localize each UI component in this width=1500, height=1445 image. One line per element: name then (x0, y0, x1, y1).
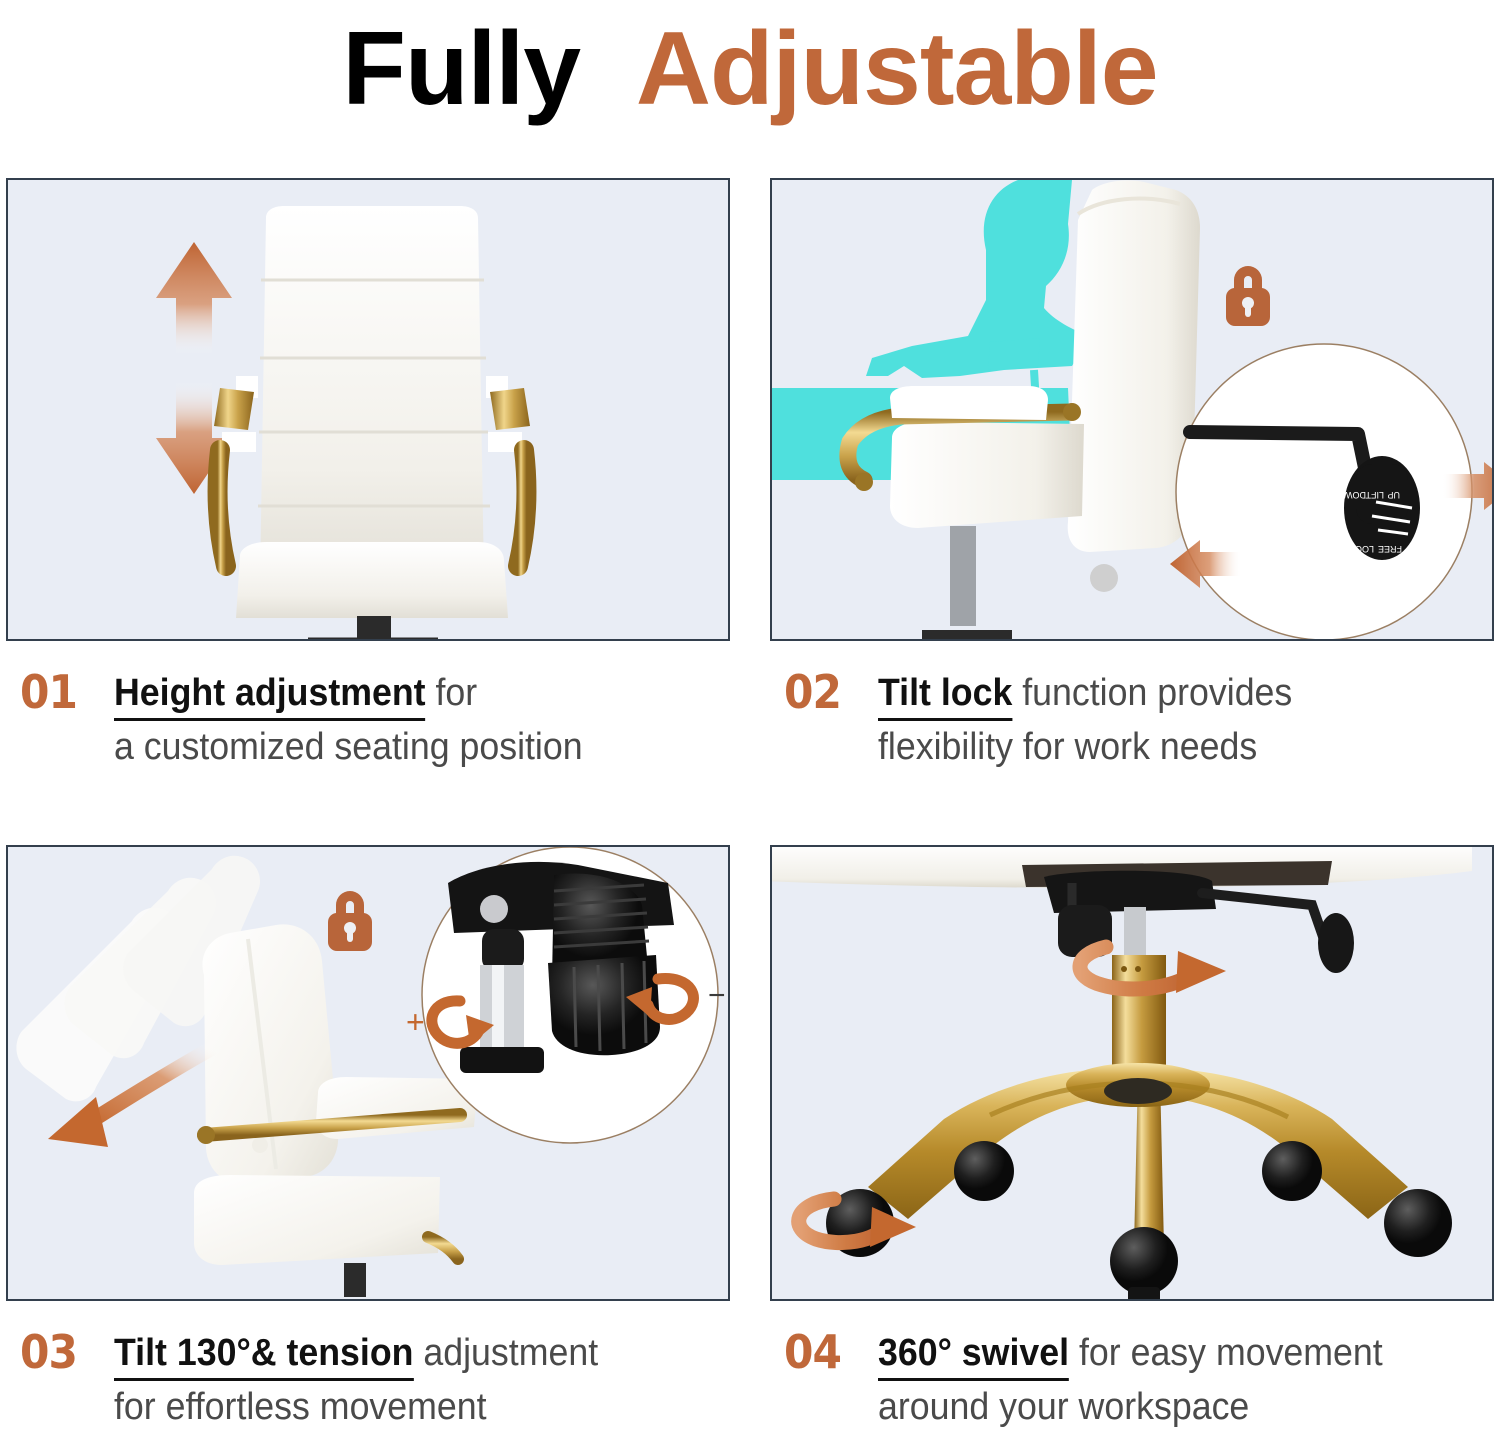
chair-base-swivel-art (772, 847, 1494, 1301)
lock-icon (1226, 266, 1270, 326)
caption-02: 02 Tilt lock function provides flexibili… (772, 666, 1500, 774)
tension-plus-label: + (406, 1004, 425, 1040)
swivel-base (868, 1063, 1408, 1247)
caption-line-1: Tilt 130°& tension adjustment (114, 1326, 710, 1380)
caption-rest: function provides (1012, 672, 1292, 714)
caption-strong: Tilt 130°& tension (114, 1332, 413, 1381)
caster-wheel (1110, 1227, 1178, 1295)
caption-number: 01 (20, 666, 77, 718)
caption-line-2: around your workspace (878, 1380, 1474, 1434)
chair-front-height-adjust-art (8, 180, 730, 641)
caption-strong: 360° swivel (878, 1332, 1069, 1381)
caster-wheel (954, 1141, 1014, 1201)
caption-line-1: Tilt lock function provides (878, 666, 1474, 720)
caption-line-1: 360° swivel for easy movement (878, 1326, 1474, 1380)
panel-tilt-tension: + − (6, 845, 730, 1301)
caption-rest: for easy movement (1069, 1332, 1383, 1374)
lever-label-free: FREE (1378, 544, 1402, 554)
panel-swivel (770, 845, 1494, 1301)
chair-armrest-right (486, 376, 530, 566)
caption-number: 04 (784, 1326, 841, 1378)
caption-04: 04 360° swivel for easy movement around … (772, 1326, 1500, 1434)
lever-label-down: DOWN (1338, 490, 1367, 500)
panel-height-adjustment (6, 178, 730, 641)
title-word-accent: Adjustable (636, 11, 1158, 127)
caption-strong: Tilt lock (878, 672, 1012, 721)
tilt-lock-inset: FREE LOCK UP LIFT DOWN (1170, 344, 1494, 640)
chair-backrest (258, 206, 490, 580)
lever-label-up: UP (1387, 490, 1400, 500)
title-word-black: Fully (342, 11, 580, 127)
tension-minus-label: − (708, 979, 726, 1012)
caption-line-1: Height adjustment for (114, 666, 710, 720)
gas-cylinder-column (1112, 955, 1166, 1079)
caption-rest: for (426, 672, 478, 714)
caption-line-2: a customized seating position (114, 720, 710, 774)
chair-armrest-left (214, 376, 258, 566)
infographic-root: Fully Adjustable (0, 0, 1500, 1445)
chair-cylinder (308, 616, 438, 641)
lock-icon (328, 891, 372, 951)
chair-recline-tension-art: + − (8, 847, 730, 1301)
caption-number: 02 (784, 666, 841, 718)
panel-tilt-lock: FREE LOCK UP LIFT DOWN (770, 178, 1494, 641)
lever-label-lift: LIFT (1365, 490, 1384, 500)
caption-line-2: flexibility for work needs (878, 720, 1474, 774)
caption-rest: adjustment (413, 1332, 598, 1374)
arrow-up-icon (156, 242, 232, 355)
caster-wheel (1384, 1189, 1452, 1257)
chair-seat (236, 542, 508, 618)
page-title: Fully Adjustable (0, 0, 1500, 144)
caption-01: 01 Height adjustment for a customized se… (8, 666, 748, 774)
lever-label-lock: LOCK (1349, 544, 1374, 554)
caption-number: 03 (20, 1326, 77, 1378)
caption-03: 03 Tilt 130°& tension adjustment for eff… (8, 1326, 748, 1434)
caption-strong: Height adjustment (114, 672, 426, 721)
caster-wheel (1262, 1141, 1322, 1201)
chair-backrest-side (202, 924, 338, 1183)
chair-side-tilt-lock-art: FREE LOCK UP LIFT DOWN (772, 180, 1494, 641)
caption-line-2: for effortless movement (114, 1380, 710, 1434)
